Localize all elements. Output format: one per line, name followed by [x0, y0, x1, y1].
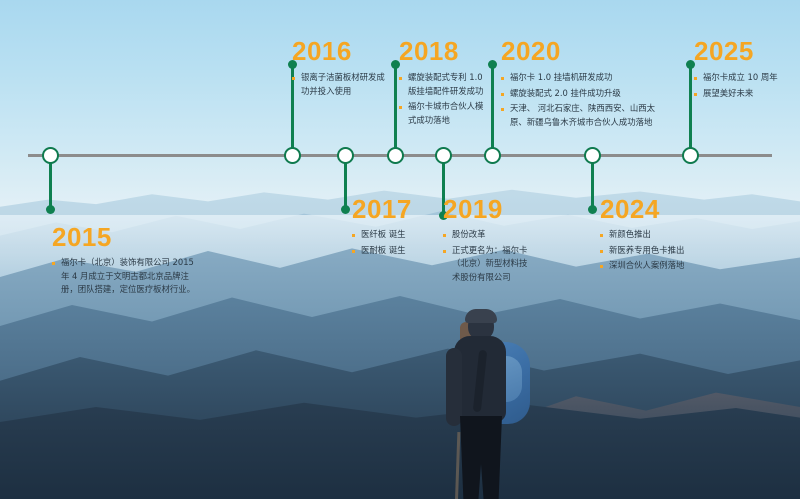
timeline-node-2020[interactable] [484, 147, 501, 164]
milestone-2024[interactable]: 2024新颜色推出新医养专用色卡推出深圳合伙人案例落地 [600, 196, 712, 275]
milestone-bullet: 医耐板 诞生 [352, 244, 440, 258]
milestone-2015[interactable]: 2015福尔卡（北京）装饰有限公司 2015 年 4 月成立于文明古都北京品牌注… [52, 224, 204, 299]
legs [460, 416, 502, 499]
milestone-bullet-list: 福尔卡 1.0 挂墙机研发成功螺旋装配式 2.0 挂件成功升级天津、 河北石家庄… [501, 71, 669, 129]
timeline-node-2018[interactable] [387, 147, 404, 164]
milestone-year-label: 2016 [292, 38, 388, 64]
milestone-bullet: 正式更名为：福尔卡（北京）新型材料技术股份有限公司 [443, 244, 535, 285]
milestone-bullet-list: 医纤板 诞生医耐板 诞生 [352, 228, 440, 257]
timeline-node-2025[interactable] [682, 147, 699, 164]
milestone-bullet: 螺旋装配式专利 1.0 版挂墙配件研发成功 [399, 71, 491, 98]
milestone-year-label: 2015 [52, 224, 204, 250]
milestone-bullet-list: 福尔卡成立 10 周年展望美好未来 [694, 71, 794, 100]
arm [446, 348, 462, 426]
milestone-bullet: 展望美好未来 [694, 87, 794, 101]
milestone-year-label: 2019 [443, 196, 535, 222]
timeline-stem-2018 [394, 64, 397, 148]
stem-end-dot [341, 205, 350, 214]
timeline-node-2015[interactable] [42, 147, 59, 164]
milestone-bullet-list: 螺旋装配式专利 1.0 版挂墙配件研发成功福尔卡城市合伙人模式成功落地 [399, 71, 491, 127]
milestone-2018[interactable]: 2018螺旋装配式专利 1.0 版挂墙配件研发成功福尔卡城市合伙人模式成功落地 [399, 38, 491, 129]
milestone-year-label: 2025 [694, 38, 794, 64]
milestone-bullet: 新医养专用色卡推出 [600, 244, 712, 258]
milestone-bullet: 福尔卡成立 10 周年 [694, 71, 794, 85]
milestone-bullet: 福尔卡城市合伙人模式成功落地 [399, 100, 491, 127]
milestone-2019[interactable]: 2019股份改革正式更名为：福尔卡（北京）新型材料技术股份有限公司 [443, 196, 535, 286]
milestone-year-label: 2020 [501, 38, 669, 64]
timeline-node-2016[interactable] [284, 147, 301, 164]
hiker-silhouette [432, 312, 552, 499]
timeline-node-2017[interactable] [337, 147, 354, 164]
timeline-stem-2025 [689, 64, 692, 148]
milestone-2020[interactable]: 2020福尔卡 1.0 挂墙机研发成功螺旋装配式 2.0 挂件成功升级天津、 河… [501, 38, 669, 131]
milestone-bullet-list: 新颜色推出新医养专用色卡推出深圳合伙人案例落地 [600, 228, 712, 273]
timeline-stem-2024 [591, 158, 594, 210]
milestone-bullet: 股份改革 [443, 228, 535, 242]
milestone-bullet-list: 股份改革正式更名为：福尔卡（北京）新型材料技术股份有限公司 [443, 228, 535, 284]
timeline-stem-2015 [49, 158, 52, 210]
milestone-2016[interactable]: 2016银离子洁菌板材研发成功并投入使用 [292, 38, 388, 100]
milestone-2025[interactable]: 2025福尔卡成立 10 周年展望美好未来 [694, 38, 794, 102]
milestone-bullet: 银离子洁菌板材研发成功并投入使用 [292, 71, 388, 98]
milestone-bullet: 天津、 河北石家庄、陕西西安、山西太原、新疆乌鲁木齐城市合伙人成功落地 [501, 102, 669, 129]
trekking-pole [455, 432, 461, 499]
milestone-bullet: 螺旋装配式 2.0 挂件成功升级 [501, 87, 669, 101]
milestone-bullet: 新颜色推出 [600, 228, 712, 242]
milestone-bullet: 医纤板 诞生 [352, 228, 440, 242]
timeline-stem-2020 [491, 64, 494, 148]
cap [465, 309, 497, 323]
milestone-year-label: 2017 [352, 196, 440, 222]
milestone-2017[interactable]: 2017医纤板 诞生医耐板 诞生 [352, 196, 440, 259]
milestone-bullet: 深圳合伙人案例落地 [600, 259, 712, 273]
milestone-bullet: 福尔卡 1.0 挂墙机研发成功 [501, 71, 669, 85]
stem-end-dot [588, 205, 597, 214]
timeline-node-2024[interactable] [584, 147, 601, 164]
timeline-infographic: 2015福尔卡（北京）装饰有限公司 2015 年 4 月成立于文明古都北京品牌注… [0, 0, 800, 499]
stem-end-dot [46, 205, 55, 214]
timeline-stem-2017 [344, 158, 347, 210]
milestone-year-label: 2018 [399, 38, 491, 64]
milestone-bullet-list: 福尔卡（北京）装饰有限公司 2015 年 4 月成立于文明古都北京品牌注册，团队… [52, 256, 204, 297]
milestone-bullet: 福尔卡（北京）装饰有限公司 2015 年 4 月成立于文明古都北京品牌注册，团队… [52, 256, 204, 297]
timeline-node-2019[interactable] [435, 147, 452, 164]
milestone-year-label: 2024 [600, 196, 712, 222]
milestone-bullet-list: 银离子洁菌板材研发成功并投入使用 [292, 71, 388, 98]
